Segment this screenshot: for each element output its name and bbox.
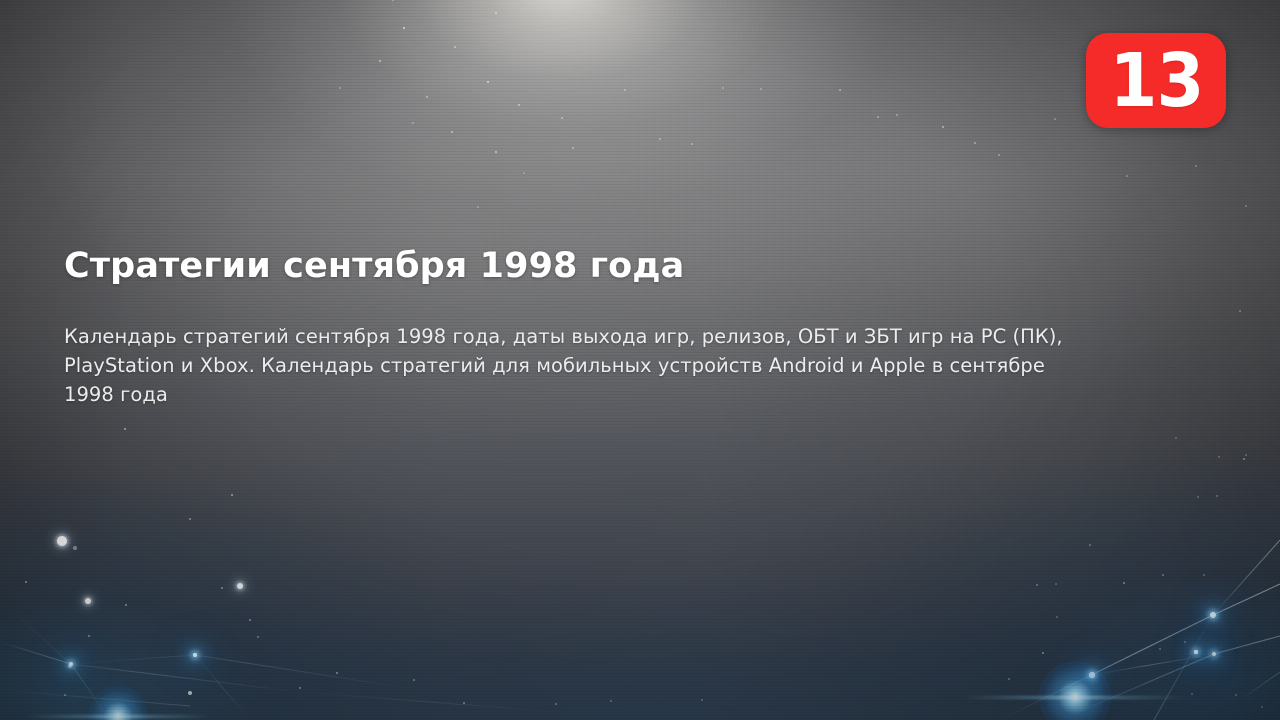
star-dot [1055,583,1057,585]
text-content-block: Стратегии сентября 1998 года Календарь с… [64,244,1099,409]
star-dot [659,138,661,140]
star-dot [1245,205,1247,207]
star-dot [572,147,574,149]
star-dot [237,583,243,589]
lens-flare [88,686,148,720]
star-dot [1184,641,1186,643]
star-dot [722,87,724,89]
star-dot [1210,612,1216,618]
star-dot [125,604,128,607]
star-dot [403,27,406,30]
star-dot [68,664,72,668]
star-dot [1245,454,1247,456]
slide-canvas: 13 Стратегии сентября 1998 года Календар… [0,0,1280,720]
star-dot [561,117,563,119]
star-dot [495,12,497,14]
star-dot [463,702,466,705]
star-dot [451,131,453,133]
star-dot [1123,582,1126,585]
star-dot [1195,165,1197,167]
star-dot [412,122,414,124]
star-dot [701,699,703,701]
day-number-badge[interactable]: 13 [1086,33,1226,128]
lens-flare [1039,661,1111,720]
page-description: Календарь стратегий сентября 1998 года, … [64,288,1086,409]
star-dot [518,104,520,106]
star-dot [231,494,233,496]
star-dot [1216,495,1218,497]
star-dot [1159,648,1161,650]
star-dot [73,546,77,550]
star-dot [188,691,192,695]
star-dot [64,694,66,696]
star-dot [1162,574,1164,576]
star-dot [57,536,67,546]
star-dot [392,0,394,1]
star-dot [69,662,74,667]
star-dot [25,581,27,583]
star-dot [877,116,879,118]
lens-flare-streak [25,715,211,718]
star-dot [477,206,479,208]
star-dot [691,143,693,145]
star-dot [1197,496,1199,498]
star-dot [1089,672,1094,677]
star-dot [1239,310,1241,312]
star-dot [189,518,191,520]
star-dot [193,653,197,657]
star-dot [1261,706,1263,708]
star-dot [221,587,223,589]
star-dot [339,87,341,89]
star-dot [124,428,127,431]
star-dot [1212,652,1217,657]
star-dot [1056,616,1058,618]
star-dot [839,89,841,91]
star-dot [942,126,945,129]
star-dot [1235,694,1237,696]
star-dot [299,687,301,689]
star-dot [88,635,91,638]
star-dot [523,172,525,174]
star-dot [336,672,339,675]
star-dot [998,154,1000,156]
star-dot [624,89,626,91]
star-dot [1036,584,1038,586]
star-dot [1194,650,1197,653]
star-dot [1054,118,1056,120]
star-dot [379,60,381,62]
star-dot [1089,544,1091,546]
star-dot [610,700,612,702]
star-dot [1203,574,1205,576]
star-dot [85,598,92,605]
star-dot [413,679,415,681]
star-dot [249,619,251,621]
star-dot [426,96,428,98]
star-dot [487,81,490,84]
star-dot [1218,456,1220,458]
star-dot [974,142,976,144]
star-dot [1243,458,1245,460]
star-dot [1191,693,1193,695]
star-dot [896,114,898,116]
star-dot [1126,175,1128,177]
star-dot [257,636,259,638]
lens-flare-streak [963,696,1186,699]
day-number-label: 13 [1109,44,1203,118]
star-dot [1042,652,1045,655]
star-dot [760,88,762,90]
star-dot [1008,678,1010,680]
star-dot [454,46,456,48]
star-dot [555,703,557,705]
page-title: Стратегии сентября 1998 года [64,244,1099,288]
star-dot [1175,437,1177,439]
star-dot [495,151,498,154]
